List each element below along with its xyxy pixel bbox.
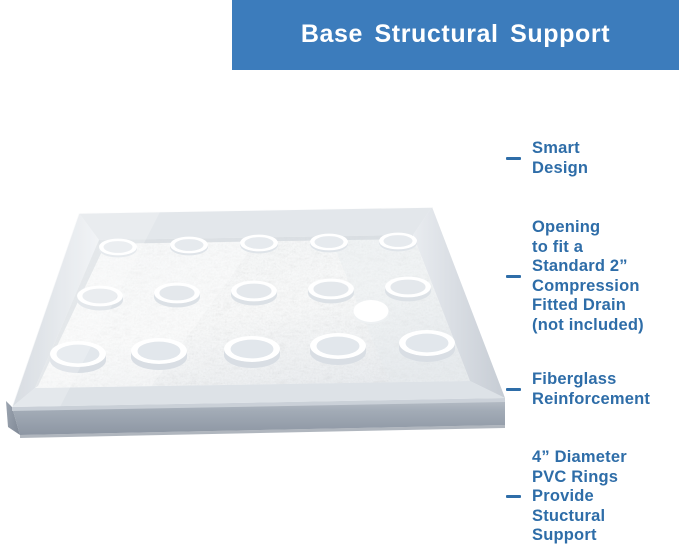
pvc-ring xyxy=(224,336,280,368)
callout-fiberglass-label: Fiberglass Reinforcement xyxy=(532,370,650,409)
callout-drain-opening: Opening to fit a Standard 2” Compression… xyxy=(506,218,644,335)
pvc-ring xyxy=(310,333,366,365)
pvc-ring xyxy=(385,277,431,302)
page-title: Base Structural Support xyxy=(301,22,610,49)
dash-marker-icon xyxy=(506,388,521,391)
dash-marker-icon xyxy=(506,495,521,498)
callout-smart-design: Smart Design xyxy=(506,139,588,178)
callout-drain-opening-label: Opening to fit a Standard 2” Compression… xyxy=(532,218,644,335)
drain-opening xyxy=(354,300,389,324)
pvc-ring xyxy=(240,235,278,254)
pvc-ring xyxy=(308,279,354,304)
pvc-ring xyxy=(131,338,187,370)
callout-pvc-rings-label: 4” Diameter PVC Rings Provide Stuctural … xyxy=(532,448,627,546)
callout-smart-design-label: Smart Design xyxy=(532,139,588,178)
pvc-ring xyxy=(399,330,455,362)
product-image xyxy=(0,185,520,445)
pvc-ring xyxy=(154,283,200,308)
pvc-ring xyxy=(231,281,277,306)
pvc-ring xyxy=(379,233,417,252)
shower-base-illustration xyxy=(0,185,520,445)
callout-pvc-rings: 4” Diameter PVC Rings Provide Stuctural … xyxy=(506,448,627,546)
pvc-ring xyxy=(170,237,208,256)
dash-marker-icon xyxy=(506,157,521,160)
dash-marker-icon xyxy=(506,275,521,278)
callout-fiberglass: Fiberglass Reinforcement xyxy=(506,370,650,409)
pvc-ring xyxy=(310,234,348,253)
header-banner: Base Structural Support xyxy=(232,0,679,70)
